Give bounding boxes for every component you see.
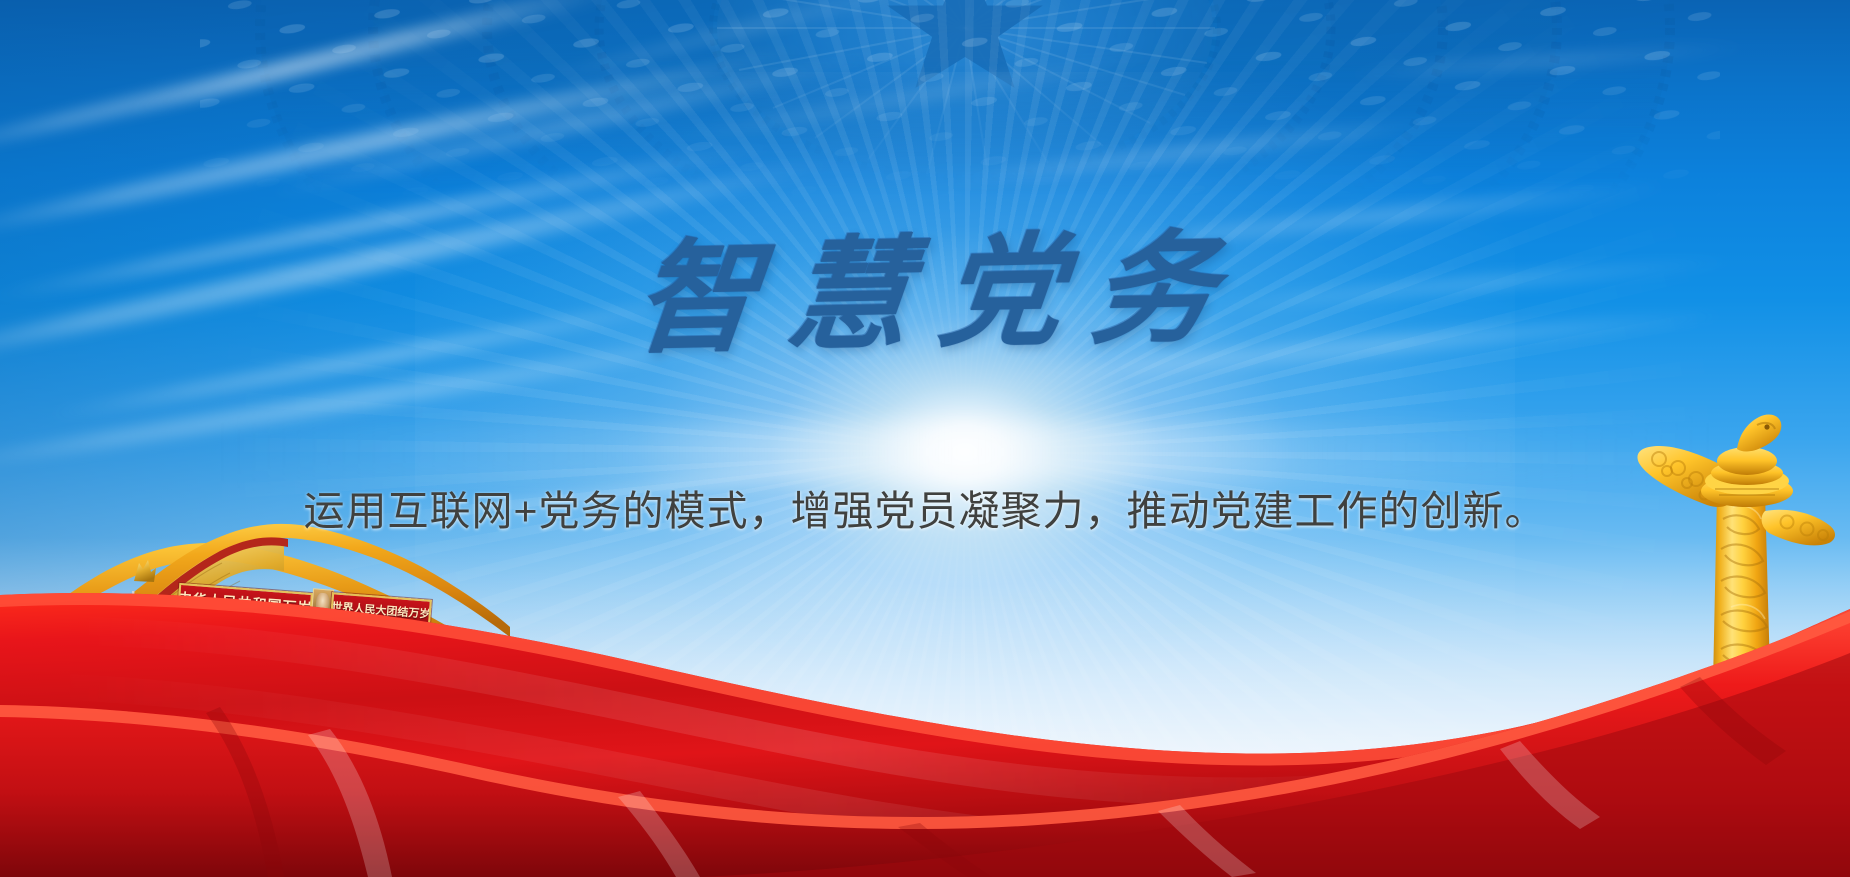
page-title: 智慧党务 [599,226,1251,360]
banner-title-area: 智慧党务 [0,232,1850,354]
banner-subtitle-area: 运用互联网+党务的模式，增强党员凝聚力，推动党建工作的创新。 [0,487,1850,535]
party-affairs-banner: 智慧党务 运用互联网+党务的模式，增强党员凝聚力，推动党建工作的创新。 [0,0,1850,877]
red-silk-ribbon [0,577,1850,877]
banner-subtitle: 运用互联网+党务的模式，增强党员凝聚力，推动党建工作的创新。 [304,487,1547,535]
sun-lens-flare [215,423,1715,481]
huabiao-dragon-head [1737,415,1781,452]
